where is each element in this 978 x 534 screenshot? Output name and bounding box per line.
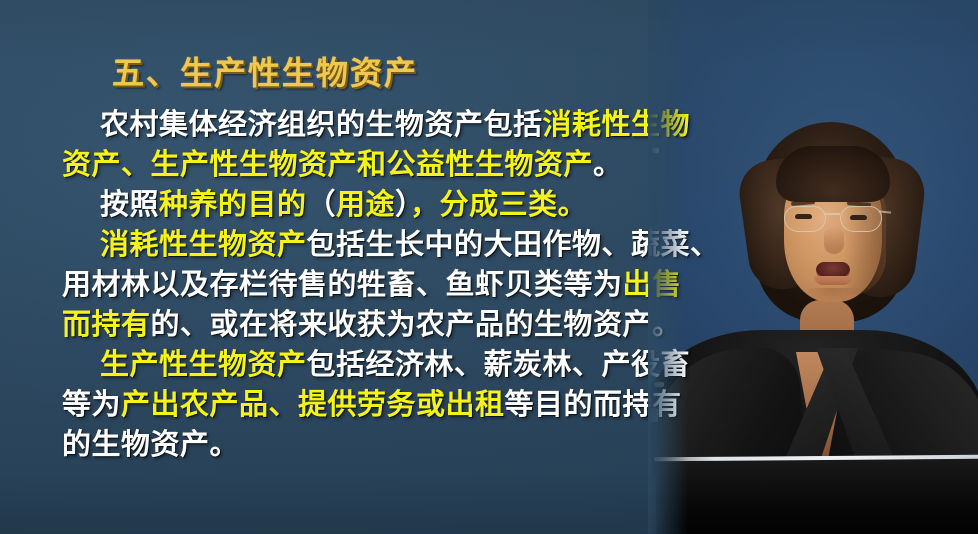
highlighted-text: 产出农产品、提供劳务或出租	[121, 387, 505, 421]
presenter-video-panel	[648, 0, 978, 534]
body-text: 的生物资产。	[62, 427, 239, 461]
highlighted-text: 资产、生产性生物资产和公益性生物资产	[62, 147, 593, 181]
highlighted-text: 种养的目的	[159, 187, 307, 221]
presenter-figure	[648, 0, 978, 534]
slide-line: 资产、生产性生物资产和公益性生物资产。	[62, 144, 692, 184]
highlighted-text: 而持有	[62, 307, 151, 341]
body-text: 包括经济林、薪炭林、产役畜	[307, 347, 691, 381]
body-text: 的、或在将来收获为农产品的生物资产。	[151, 307, 682, 341]
highlighted-text: 消耗性生物资产	[100, 227, 307, 261]
slide-line: 农村集体经济组织的生物资产包括消耗性生物	[62, 104, 692, 144]
body-text: 用材林以及存栏待售的牲畜、鱼虾贝类等为	[62, 267, 623, 301]
body-text: 等为	[62, 387, 121, 421]
slide-line: 而持有的、或在将来收获为农产品的生物资产。	[62, 304, 692, 344]
slide-line: 等为产出农产品、提供劳务或出租等目的而持有	[62, 384, 692, 424]
highlighted-text: ，分成三类。	[410, 187, 587, 221]
video-left-feather	[648, 0, 688, 534]
slide-line: 用材林以及存栏待售的牲畜、鱼虾贝类等为出售	[62, 264, 692, 304]
body-text: 。	[593, 147, 623, 181]
presenter-nose	[824, 226, 844, 254]
podium-shadow	[656, 492, 978, 534]
lecture-video-frame: 五、生产性生物资产 农村集体经济组织的生物资产包括消耗性生物资产、生产性生物资产…	[0, 0, 978, 534]
glasses-bridge	[824, 213, 840, 215]
highlighted-text: 生产性生物资产	[100, 347, 307, 381]
body-text: 农村集体经济组织的生物资产包括	[100, 107, 543, 141]
presenter-hair-fringe	[776, 146, 890, 202]
presenter-eye-right	[850, 215, 867, 220]
body-text: （	[307, 187, 337, 221]
page-title: 五、生产性生物资产	[112, 48, 418, 94]
body-text: ）	[395, 187, 410, 221]
slide-line: 的生物资产。	[62, 424, 692, 464]
presenter-chin-shadow	[806, 288, 862, 302]
slide-body: 农村集体经济组织的生物资产包括消耗性生物资产、生产性生物资产和公益性生物资产。按…	[62, 104, 692, 464]
presenter-eye-left	[795, 214, 812, 219]
presenter-lower-lip	[814, 276, 852, 285]
glasses-lens-left	[784, 206, 826, 232]
slide-line: 消耗性生物资产包括生长中的大田作物、蔬菜、	[62, 224, 692, 264]
slide-line: 按照种养的目的（用途），分成三类。	[62, 184, 692, 224]
body-text: 按照	[100, 187, 159, 221]
highlighted-text: 用途	[336, 187, 395, 221]
slide-line: 生产性生物资产包括经济林、薪炭林、产役畜	[62, 344, 692, 384]
